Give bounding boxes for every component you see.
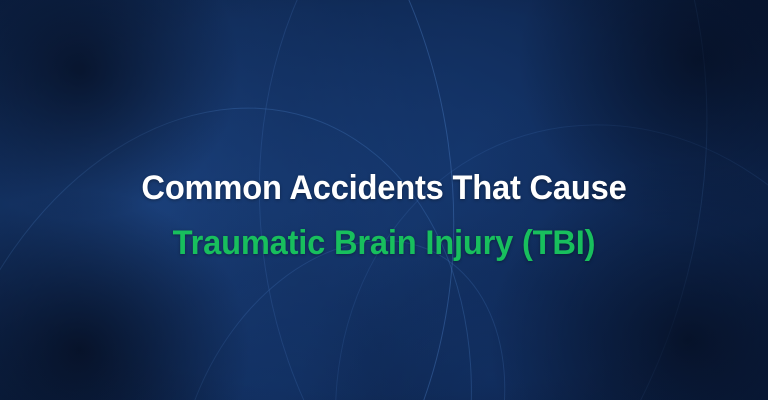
headline-line-accent: Traumatic Brain Injury (TBI) xyxy=(15,224,752,262)
headline-line-primary: Common Accidents That Cause xyxy=(15,169,752,207)
page-title: Common Accidents That Cause Traumatic Br… xyxy=(0,169,768,261)
tbi-hero-banner: Common Accidents That Cause Traumatic Br… xyxy=(0,0,768,400)
